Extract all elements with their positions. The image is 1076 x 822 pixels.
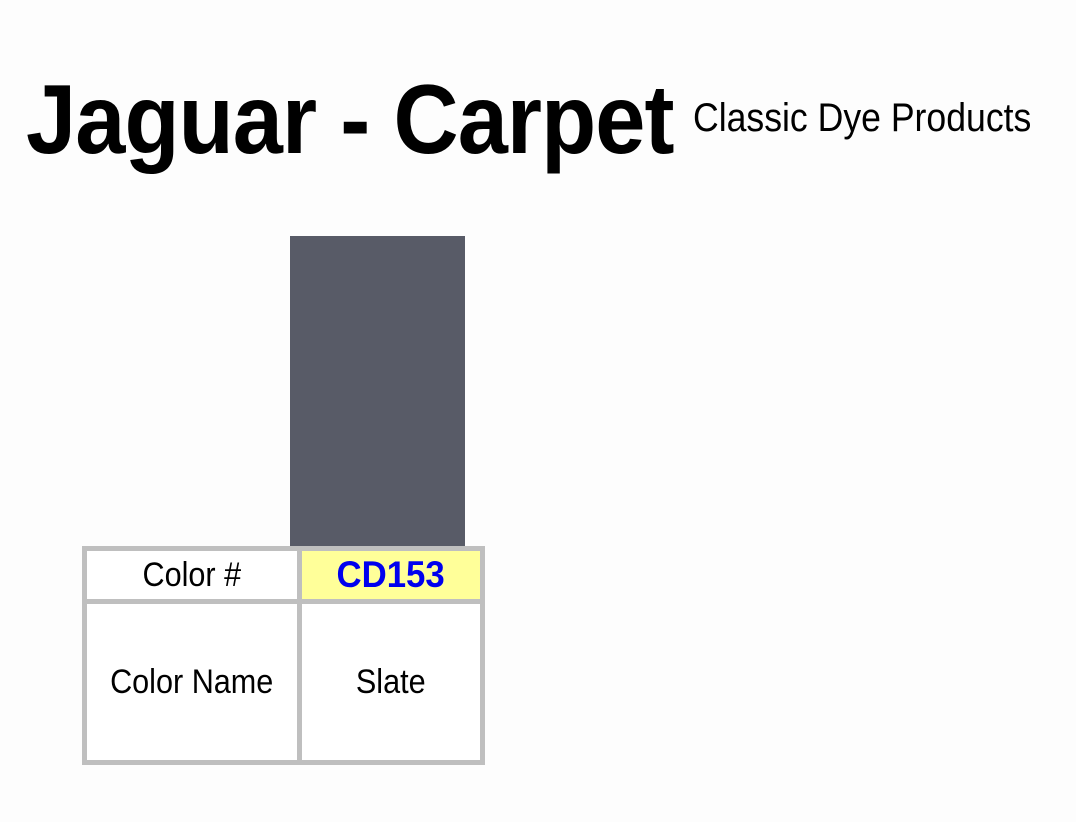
color-info-table: Color # CD153 Color Name Slate: [82, 546, 485, 765]
cell-label-color-name: Color Name: [85, 602, 300, 763]
table-row: Color # CD153: [85, 549, 483, 602]
color-swatch: [290, 236, 465, 547]
brand-subtitle: Classic Dye Products: [693, 96, 1031, 140]
label-color-name: Color Name: [110, 663, 273, 702]
cell-value-color-number: CD153: [300, 549, 483, 602]
label-color-number: Color #: [143, 556, 242, 595]
page-title: Jaguar - Carpet: [26, 70, 674, 168]
cell-label-color-number: Color #: [85, 549, 300, 602]
value-color-number: CD153: [337, 554, 445, 596]
header: Jaguar - Carpet Classic Dye Products: [0, 0, 1076, 200]
slide-canvas: Jaguar - Carpet Classic Dye Products Col…: [0, 0, 1076, 822]
value-color-name: Slate: [356, 663, 426, 702]
table-row: Color Name Slate: [85, 602, 483, 763]
cell-value-color-name: Slate: [300, 602, 483, 763]
